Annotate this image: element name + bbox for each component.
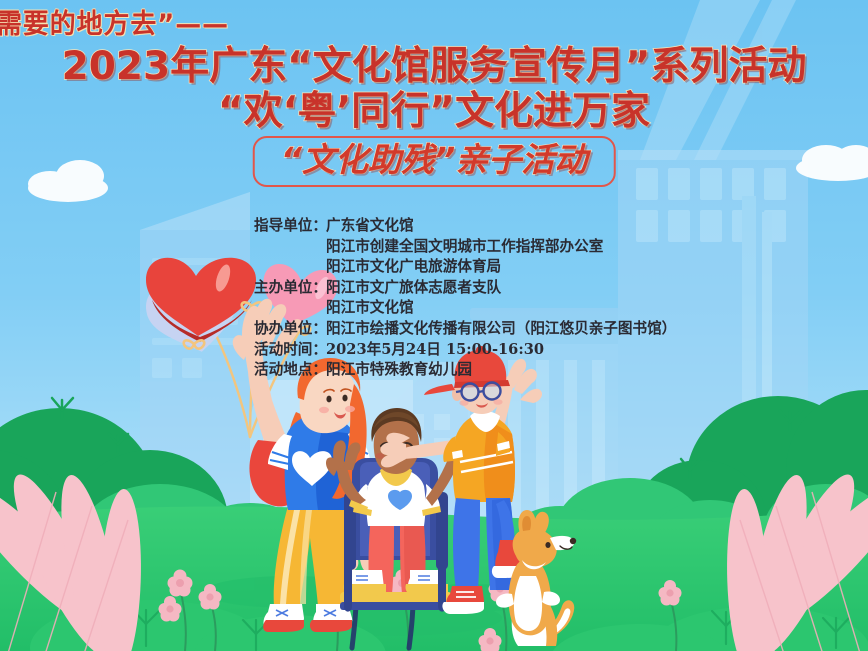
boy-head [371,408,421,474]
figure-boy-in-wheelchair [326,408,494,612]
info-row-value: 广东省文化馆 [326,217,414,234]
info-row-value: 阳江市文广旅体志愿者支队 [326,279,501,296]
pink-fan-leaf-left [0,449,169,651]
woman-shoes [263,604,352,632]
subtitle-box: “文化助残”亲子活动 [253,136,616,187]
corgi-dog [496,510,576,646]
kicker-text: 需要的地方去”—— [0,2,229,41]
cap-boy-shoes [442,500,524,614]
title-line-1: 2023年广东“文化馆服务宣传月”系列活动 [0,47,868,86]
info-row-value: 阳江市文化馆 [326,299,414,316]
figure-boy-with-cap [380,346,542,614]
corgi-head [513,510,577,569]
info-row: 指导单位：阳江市创建全国文明城市工作指挥部办公室 [254,237,676,258]
event-info-block: 指导单位：广东省文化馆指导单位：阳江市创建全国文明城市工作指挥部办公室指导单位：… [254,216,676,381]
pink-fan-leaf-right [699,449,868,651]
title-line-2: “欢‘粤’同行”文化进万家 [0,92,868,131]
info-row-value: 阳江市文化广电旅游体育局 [326,258,501,275]
bushes [0,390,868,610]
info-row: 协办单位：阳江市绘播文化传播有限公司（阳江悠贝亲子图书馆） [254,319,676,340]
balloon-red [146,258,256,342]
info-row-label: 协办单位： [254,319,326,340]
info-row-value: 阳江市绘播文化传播有限公司（阳江悠贝亲子图书馆） [326,320,676,337]
info-row-label: 主办单位： [254,278,326,299]
boy-shoes [343,570,448,596]
flowers [159,564,682,651]
poster-canvas: 需要的地方去”—— 2023年广东“文化馆服务宣传月”系列活动 “欢‘粤’同行”… [0,0,868,651]
info-row: 指导单位：广东省文化馆 [254,216,676,237]
info-row: 活动时间：2023年5月24日 15:00-16:30 [254,340,676,361]
balloon-lavender [141,268,250,362]
info-row-label: 活动时间： [254,340,326,361]
info-row-value: 阳江市特殊教育幼儿园 [326,361,472,378]
info-row-label: 指导单位： [254,216,326,237]
info-row-value: 阳江市创建全国文明城市工作指挥部办公室 [326,238,603,255]
info-row: 活动地点：阳江市特殊教育幼儿园 [254,360,676,381]
info-row: 主办单位：阳江市文广旅体志愿者支队 [254,278,676,299]
boy-high-five-hand [380,433,410,468]
info-row: 指导单位：阳江市文化馆 [254,298,676,319]
info-row-label: 活动地点： [254,360,326,381]
subtitle-text: “文化助残”亲子活动 [281,143,588,178]
info-row: 指导单位：阳江市文化广电旅游体育局 [254,257,676,278]
boy-peace-hand [326,440,361,476]
info-row-value: 2023年5月24日 15:00-16:30 [326,341,544,358]
